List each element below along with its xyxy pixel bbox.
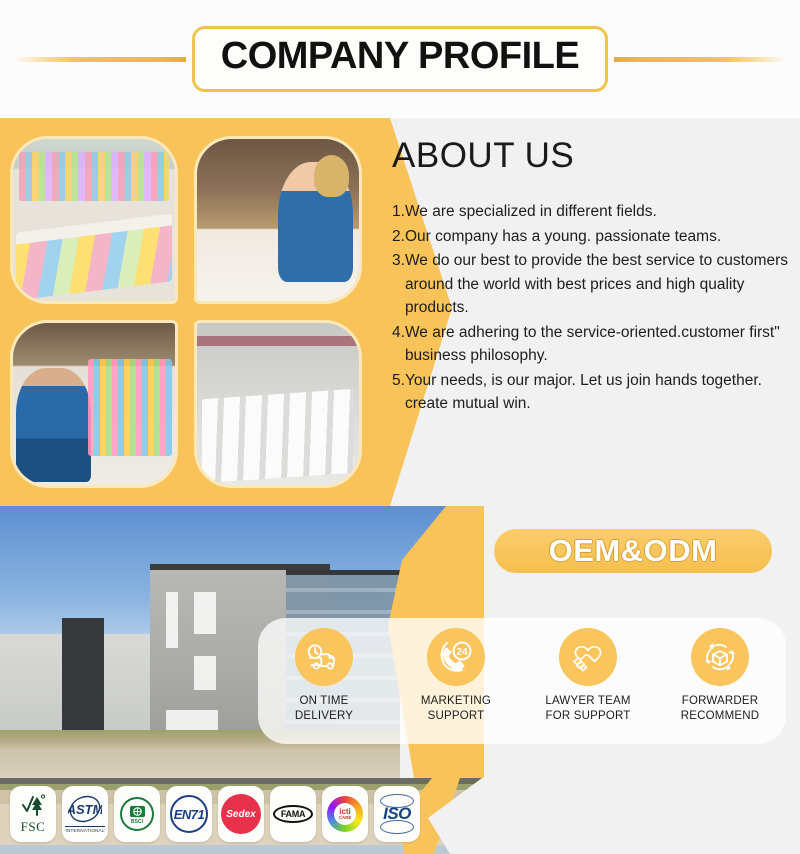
cert-badge-iso[interactable]: ISO xyxy=(374,786,420,842)
service-label-line2: SUPPORT xyxy=(428,710,485,722)
cert-sub-label: INTERNATIONAL xyxy=(65,826,104,833)
cert-badge-bsci[interactable]: BSCI xyxy=(114,786,160,842)
svg-text:24: 24 xyxy=(456,647,468,658)
cert-badge-icti[interactable]: icti CARE xyxy=(322,786,368,842)
service-highlights-panel: ON TIME DELIVERY 24 MARKETING SUPPORT xyxy=(258,618,786,744)
service-label: MARKETING SUPPORT xyxy=(421,694,491,724)
package-arrows-icon xyxy=(691,628,749,686)
phone-24h-icon: 24 xyxy=(427,628,485,686)
list-item: 5. Your needs, is our major. Let us join… xyxy=(392,369,792,416)
service-label-line1: FORWARDER xyxy=(682,695,759,707)
handshake-icon xyxy=(559,628,617,686)
svg-text:ASTM: ASTM xyxy=(68,802,102,817)
photo-stationery-shop-shelves xyxy=(10,136,178,304)
service-label-line1: ON TIME xyxy=(299,695,348,707)
en71-seal-icon: EN71 xyxy=(170,795,208,833)
list-item-text: Our company has a young. passionate team… xyxy=(405,225,792,249)
list-item-number: 2. xyxy=(392,225,405,249)
cert-label: BSCI xyxy=(131,819,143,825)
cert-badge-fsc[interactable]: FSC xyxy=(10,786,56,842)
about-list: 1. We are specialized in different field… xyxy=(392,200,792,416)
iso-globe-icon: ISO xyxy=(380,794,414,834)
fama-oval-icon: FAMA xyxy=(273,805,313,823)
service-forwarder-recommend[interactable]: FORWARDER RECOMMEND xyxy=(654,618,786,724)
photo-image xyxy=(197,323,359,485)
cert-label: FSC xyxy=(21,819,46,835)
list-item: 4. We are adhering to the service-orient… xyxy=(392,321,792,368)
photo-man-at-display-shelf xyxy=(10,320,178,488)
header-title-box: COMPANY PROFILE xyxy=(192,26,608,92)
oem-odm-label: OEM&ODM xyxy=(549,533,718,569)
service-lawyer-team[interactable]: LAWYER TEAM FOR SUPPORT xyxy=(522,618,654,724)
cert-badge-sedex[interactable]: Sedex xyxy=(218,786,264,842)
about-text-block: ABOUT US 1. We are specialized in differ… xyxy=(392,136,792,417)
photo-image xyxy=(13,323,175,485)
list-item: 2. Our company has a young. passionate t… xyxy=(392,225,792,249)
certification-badge-row: FSC ASTM INTERNATIONAL xyxy=(10,786,420,842)
fsc-tree-check-icon xyxy=(20,794,46,818)
list-item-text: We do our best to provide the best servi… xyxy=(405,249,792,320)
service-label-line2: FOR SUPPORT xyxy=(545,710,630,722)
delivery-truck-clock-icon xyxy=(295,628,353,686)
photo-image xyxy=(197,139,359,301)
header-rule-left xyxy=(12,57,186,62)
sedex-seal-icon: Sedex xyxy=(221,794,261,834)
photo-paper-factory-line xyxy=(194,320,362,488)
list-item-text: We are adhering to the service-oriented.… xyxy=(405,321,792,368)
header-rule-right xyxy=(614,57,788,62)
cert-sub-label: CARE xyxy=(339,816,352,821)
certbar-white-curve xyxy=(420,778,800,854)
page-title: COMPANY PROFILE xyxy=(221,37,579,77)
certification-bar: FSC ASTM INTERNATIONAL xyxy=(0,778,800,854)
service-label: LAWYER TEAM FOR SUPPORT xyxy=(545,694,630,724)
cert-badge-fama[interactable]: FAMA xyxy=(270,786,316,842)
about-heading: ABOUT US xyxy=(392,136,792,176)
building-window xyxy=(194,592,216,634)
list-item-text: Your needs, is our major. Let us join ha… xyxy=(405,369,792,416)
cert-label: EN71 xyxy=(174,807,205,822)
icti-care-swirl-icon: icti CARE xyxy=(327,796,363,832)
service-label: FORWARDER RECOMMEND xyxy=(681,694,759,724)
company-profile-page: COMPANY PROFILE ABOUT US 1. xyxy=(0,0,800,854)
about-section: ABOUT US 1. We are specialized in differ… xyxy=(0,118,800,506)
list-item-number: 4. xyxy=(392,321,405,368)
list-item-number: 5. xyxy=(392,369,405,416)
page-header: COMPANY PROFILE xyxy=(0,0,800,118)
service-label-line1: MARKETING xyxy=(421,695,491,707)
photo-image xyxy=(13,139,175,301)
cert-label: Sedex xyxy=(226,809,255,820)
astm-globe-icon: ASTM xyxy=(68,795,102,825)
photo-girl-studying-library xyxy=(194,136,362,304)
service-label: ON TIME DELIVERY xyxy=(295,694,353,724)
list-item-number: 3. xyxy=(392,249,405,320)
cert-label: FAMA xyxy=(281,809,305,819)
list-item: 3. We do our best to provide the best se… xyxy=(392,249,792,320)
list-item-number: 1. xyxy=(392,200,405,224)
service-on-time-delivery[interactable]: ON TIME DELIVERY xyxy=(258,618,390,724)
list-item: 1. We are specialized in different field… xyxy=(392,200,792,224)
about-photo-grid xyxy=(10,136,362,488)
oem-odm-badge: OEM&ODM xyxy=(494,529,772,573)
bsci-seal-icon: BSCI xyxy=(120,797,154,831)
service-label-line2: DELIVERY xyxy=(295,710,353,722)
building-window xyxy=(166,592,178,648)
oem-section: OEM&ODM ON TIME xyxy=(0,506,800,778)
cert-badge-en71[interactable]: EN71 xyxy=(166,786,212,842)
building-window xyxy=(194,656,216,690)
cert-badge-astm[interactable]: ASTM INTERNATIONAL xyxy=(62,786,108,842)
list-item-text: We are specialized in different fields. xyxy=(405,200,792,224)
service-marketing-support[interactable]: 24 MARKETING SUPPORT xyxy=(390,618,522,724)
service-label-line2: RECOMMEND xyxy=(681,710,759,722)
service-label-line1: LAWYER TEAM xyxy=(545,695,630,707)
bsci-emblem-icon xyxy=(129,804,146,819)
